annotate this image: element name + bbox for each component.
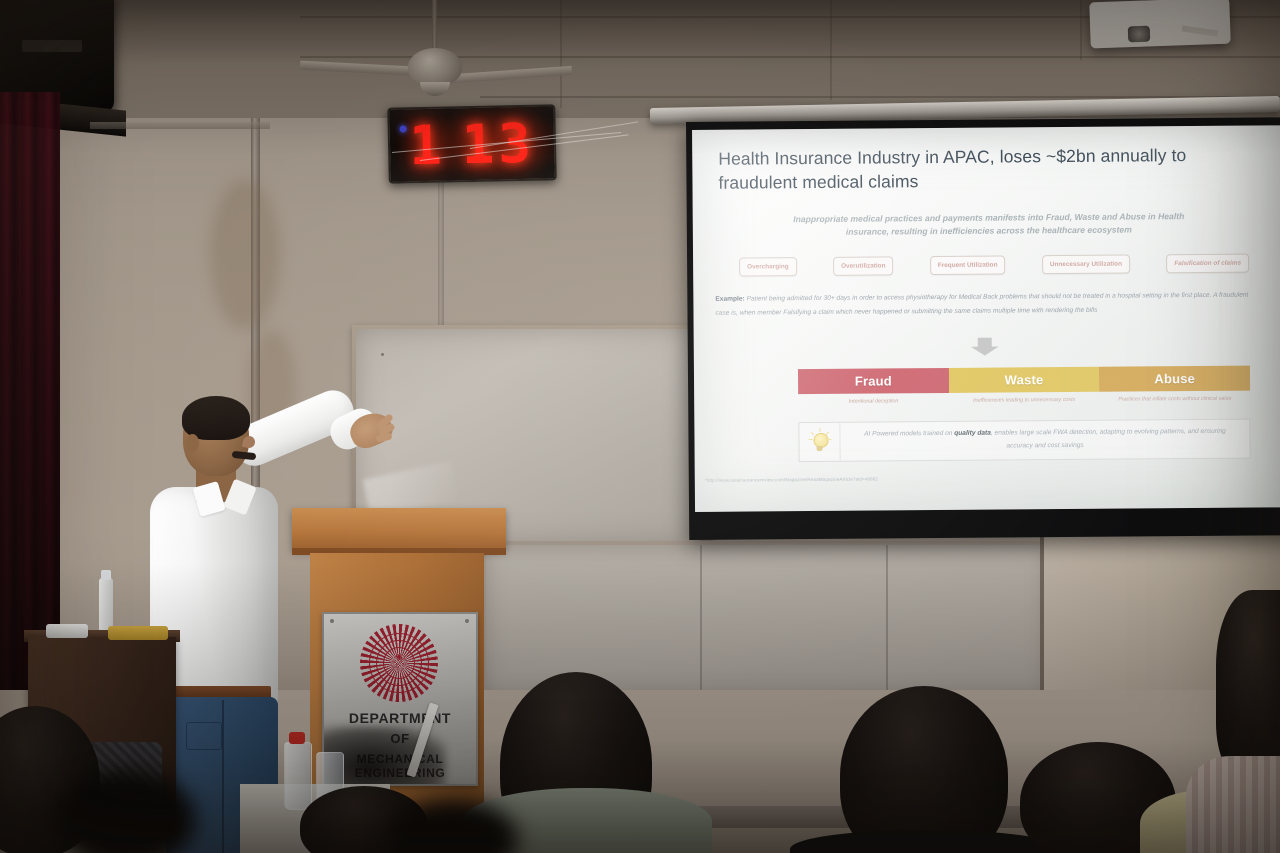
jeans-pocket	[186, 722, 222, 750]
whiteboard-mark	[381, 353, 384, 356]
pill-frequent-utilization[interactable]: Frequent Utilization	[930, 255, 1006, 275]
lecture-hall-photo: 1 13 Health Insurance Industry in APAC, …	[0, 0, 1280, 853]
audience-head	[1216, 590, 1280, 780]
fwa-category-pills: Overcharging Overutilization Frequent Ut…	[739, 254, 1249, 277]
fwa-caption-abuse: Practices that inflate costs without cli…	[1100, 396, 1251, 404]
example-paragraph: Example: Patient being admitted for 30+ …	[715, 288, 1261, 319]
sign-line-department: DEPARTMENT	[324, 710, 476, 726]
lightbulb-icon	[799, 423, 840, 461]
down-arrow-head-icon	[971, 347, 999, 356]
fwa-cell-abuse: Abuse Practices that inflate costs witho…	[1099, 366, 1250, 404]
ceiling-grid-line	[830, 0, 832, 100]
callout-text: AI Powered models trained on quality dat…	[840, 426, 1249, 454]
slide-subtitle: Inappropriate medical practices and paym…	[779, 210, 1199, 240]
college-emblem-icon: ◉	[360, 624, 438, 702]
bottle-cap	[289, 732, 305, 744]
ceiling-grid-line	[1080, 0, 1082, 60]
insight-callout: AI Powered models trained on quality dat…	[798, 419, 1250, 463]
slide-title: Health Insurance Industry in APAC, loses…	[718, 144, 1258, 196]
fwa-caption-fraud: Intentional deception	[798, 398, 949, 406]
fwa-cell-fraud: Fraud Intentional deception	[798, 368, 949, 406]
wall-stain	[210, 180, 280, 330]
callout-text-before: AI Powered models trained on	[864, 430, 954, 438]
example-body: Patient being admitted for 30+ days in o…	[715, 292, 1248, 317]
fwa-bar-waste: Waste	[949, 367, 1100, 393]
fwa-bar-fraud: Fraud	[798, 368, 949, 394]
curtain-shadow	[0, 92, 60, 712]
yellow-folder	[108, 626, 168, 640]
pill-falsification-of-claims[interactable]: Falsification of claims	[1166, 254, 1249, 274]
cup-stack	[46, 624, 88, 638]
fwa-caption-waste: Inefficiencies leading to unnecessary co…	[949, 397, 1100, 405]
podium-department-sign: ◉ DEPARTMENT OF MECHANICAL ENGINEERING	[322, 612, 478, 786]
projection-screen: Health Insurance Industry in APAC, loses…	[686, 117, 1280, 540]
audience-shoulders	[1186, 756, 1280, 853]
speaker-grille	[22, 40, 82, 52]
ceiling-grid-line	[560, 0, 562, 108]
fan-motor	[408, 48, 462, 86]
board-seam	[886, 545, 888, 695]
podium-top	[292, 508, 506, 550]
audience-head	[840, 686, 1008, 853]
pill-overcharging[interactable]: Overcharging	[739, 257, 797, 276]
callout-text-after: , enables large scale FWA detection, ada…	[991, 428, 1226, 449]
slide-footnote: *http://www.asiainsurancereview.com/Maga…	[705, 475, 1125, 483]
presentation-slide: Health Insurance Industry in APAC, loses…	[692, 125, 1280, 512]
jeans-seam	[222, 700, 224, 853]
wall-conduit	[90, 122, 270, 129]
pill-overutilization[interactable]: Overutilization	[833, 256, 894, 275]
pill-unnecessary-utilization[interactable]: Unnecessary Utilization	[1042, 255, 1130, 275]
callout-text-bold: quality data	[954, 430, 991, 437]
sanitizer-cap	[101, 570, 111, 580]
projector-lens-icon	[1128, 26, 1151, 43]
fwa-cell-waste: Waste Inefficiencies leading to unnecess…	[949, 367, 1100, 405]
example-label: Example:	[715, 296, 744, 303]
presenter-ear	[186, 434, 199, 452]
sanitizer-bottle[interactable]	[99, 578, 113, 632]
ceiling-projector	[1089, 0, 1231, 48]
fwa-band: Fraud Intentional deception Waste Ineffi…	[798, 366, 1250, 407]
fan-rod	[432, 0, 437, 52]
board-seam	[700, 545, 702, 695]
fwa-bar-abuse: Abuse	[1099, 366, 1250, 392]
water-bottle[interactable]	[284, 742, 312, 810]
